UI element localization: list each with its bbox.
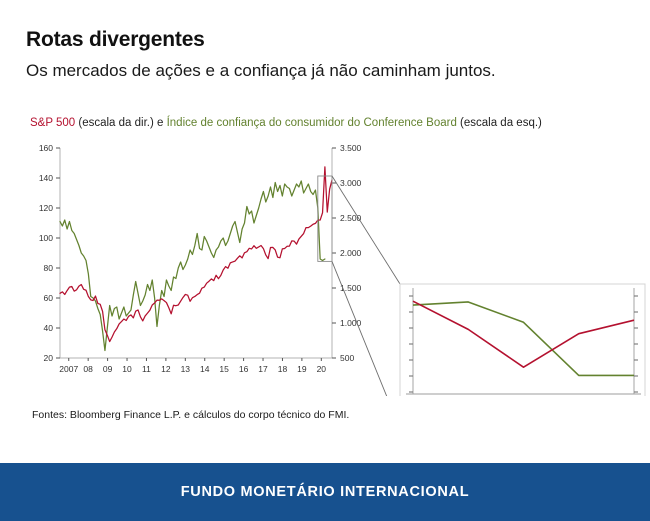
svg-text:120: 120 — [39, 203, 53, 213]
connector-line-bottom — [332, 261, 400, 396]
page-title: Rotas divergentes — [26, 28, 205, 52]
svg-text:3.500: 3.500 — [340, 143, 362, 153]
inset-panel-frame — [400, 284, 645, 396]
footer-bar: FUNDO MONETÁRIO INTERNACIONAL — [0, 463, 650, 521]
series-line-confidence — [60, 181, 325, 351]
page-subtitle: Os mercados de ações e a confiança já nã… — [26, 61, 496, 81]
svg-text:18: 18 — [278, 364, 288, 374]
chart-legend: S&P 500 (escala da dir.) e Índice de con… — [30, 117, 542, 129]
svg-text:16: 16 — [239, 364, 249, 374]
legend-sp500-scale: (escala da dir.) e — [75, 117, 166, 129]
footer-organization: FUNDO MONETÁRIO INTERNACIONAL — [0, 463, 650, 521]
figure-root: Rotas divergentes Os mercados de ações e… — [0, 0, 650, 521]
legend-sp500-label: S&P 500 — [30, 117, 75, 129]
svg-text:160: 160 — [39, 143, 53, 153]
main-plot: 20406080100120140160 5001.0001.5002.0002… — [39, 143, 400, 396]
main-x-ticks: 200708091011121314151617181920 — [59, 358, 326, 374]
svg-text:3.000: 3.000 — [340, 178, 362, 188]
svg-text:60: 60 — [44, 293, 54, 303]
svg-text:19: 19 — [297, 364, 307, 374]
chart-canvas: 20406080100120140160 5001.0001.5002.0002… — [0, 136, 650, 396]
svg-text:12: 12 — [161, 364, 171, 374]
svg-text:17: 17 — [258, 364, 268, 374]
legend-confidence-label: Índice de confiança do consumidor do Con… — [167, 117, 457, 129]
svg-text:100: 100 — [39, 233, 53, 243]
inset-plot: janfevmarabrmai — [400, 284, 645, 396]
svg-text:80: 80 — [44, 263, 54, 273]
main-left-ticks: 20406080100120140160 — [39, 143, 60, 363]
svg-text:10: 10 — [122, 364, 132, 374]
svg-text:14: 14 — [200, 364, 210, 374]
legend-confidence-scale: (escala da esq.) — [457, 117, 542, 129]
main-right-ticks: 5001.0001.5002.0002.5003.0003.500 — [332, 143, 362, 363]
svg-text:08: 08 — [83, 364, 93, 374]
svg-text:2.000: 2.000 — [340, 248, 362, 258]
svg-text:20: 20 — [317, 364, 327, 374]
connector-line-top — [332, 176, 400, 284]
svg-text:09: 09 — [103, 364, 113, 374]
svg-text:140: 140 — [39, 173, 53, 183]
svg-text:11: 11 — [142, 364, 151, 374]
source-note: Fontes: Bloomberg Finance L.P. e cálculo… — [32, 409, 349, 421]
svg-text:500: 500 — [340, 353, 354, 363]
svg-text:15: 15 — [219, 364, 229, 374]
svg-text:20: 20 — [44, 353, 54, 363]
svg-text:13: 13 — [181, 364, 191, 374]
svg-text:2007: 2007 — [59, 364, 78, 374]
svg-text:40: 40 — [44, 323, 54, 333]
